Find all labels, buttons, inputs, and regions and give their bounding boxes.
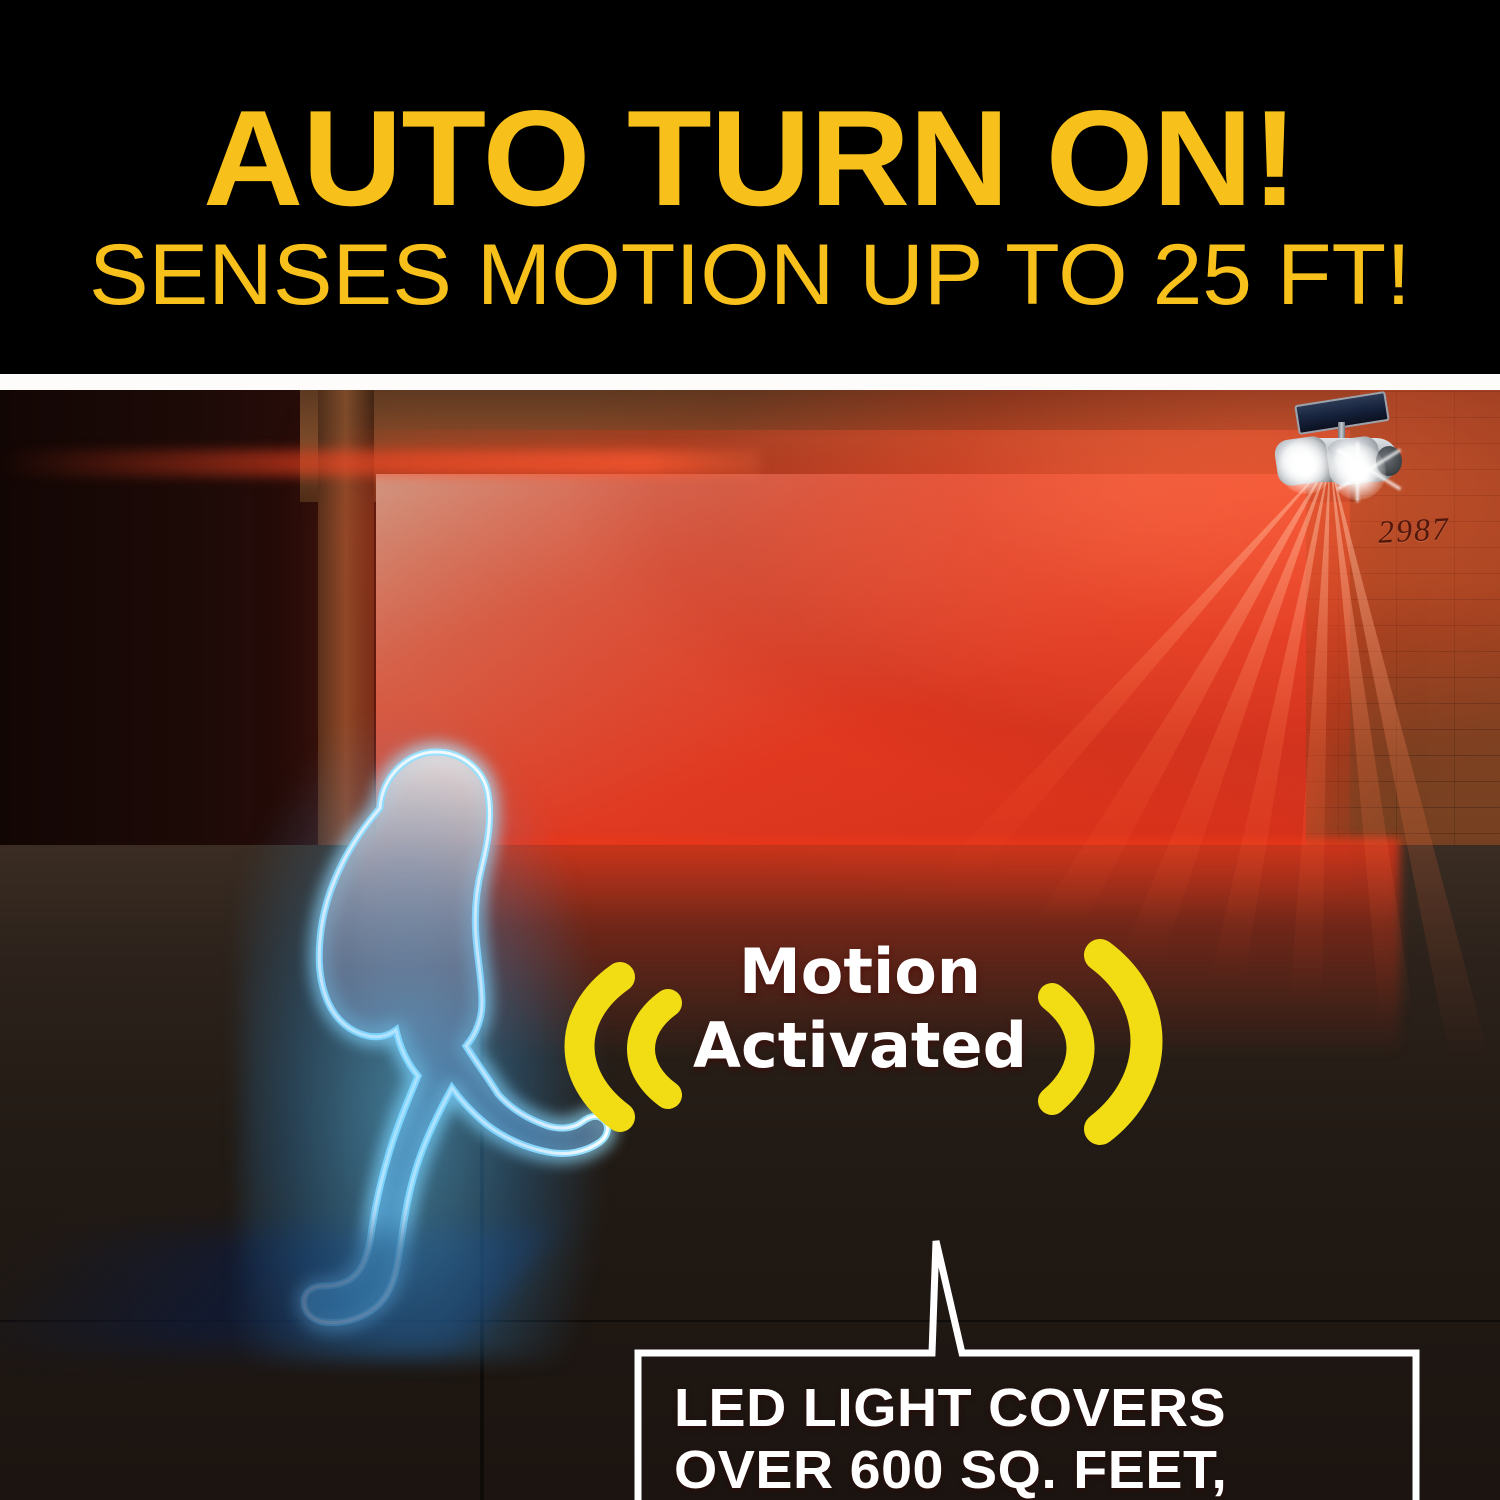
product-ad-poster: AUTO TURN ON! SENSES MOTION UP TO 25 FT!	[0, 0, 1500, 1500]
callout-headline: LED LIGHT COVERS OVER 600 SQ. FEET, STAY…	[674, 1377, 1409, 1500]
motion-activated-badge: Motion Activated	[500, 905, 1220, 1175]
header-band: AUTO TURN ON! SENSES MOTION UP TO 25 FT!	[0, 0, 1500, 374]
motion-line-2: Activated	[660, 1009, 1060, 1083]
motion-line-1: Motion	[660, 935, 1060, 1009]
led-flare-left	[1278, 438, 1334, 494]
callout-content: LED LIGHT COVERS OVER 600 SQ. FEET, STAY…	[674, 1377, 1388, 1500]
motion-activated-text: Motion Activated	[660, 935, 1060, 1083]
page-title: AUTO TURN ON!	[0, 96, 1500, 220]
house-number: 2987	[1377, 510, 1451, 551]
solar-motion-light-fixture	[1272, 398, 1412, 508]
led-spike	[1356, 442, 1359, 502]
callout-headline-line: OVER 600 SQ. FEET,	[674, 1439, 1409, 1500]
spec-callout-box: LED LIGHT COVERS OVER 600 SQ. FEET, STAY…	[632, 1235, 1422, 1500]
page-subtitle: SENSES MOTION UP TO 25 FT!	[0, 227, 1500, 323]
signal-arc-right-outer	[1100, 955, 1147, 1129]
scene-photo: 2987	[0, 390, 1500, 1500]
signal-arc-left-outer	[580, 977, 621, 1117]
callout-headline-line: LED LIGHT COVERS	[674, 1377, 1409, 1439]
header-divider	[0, 374, 1500, 390]
